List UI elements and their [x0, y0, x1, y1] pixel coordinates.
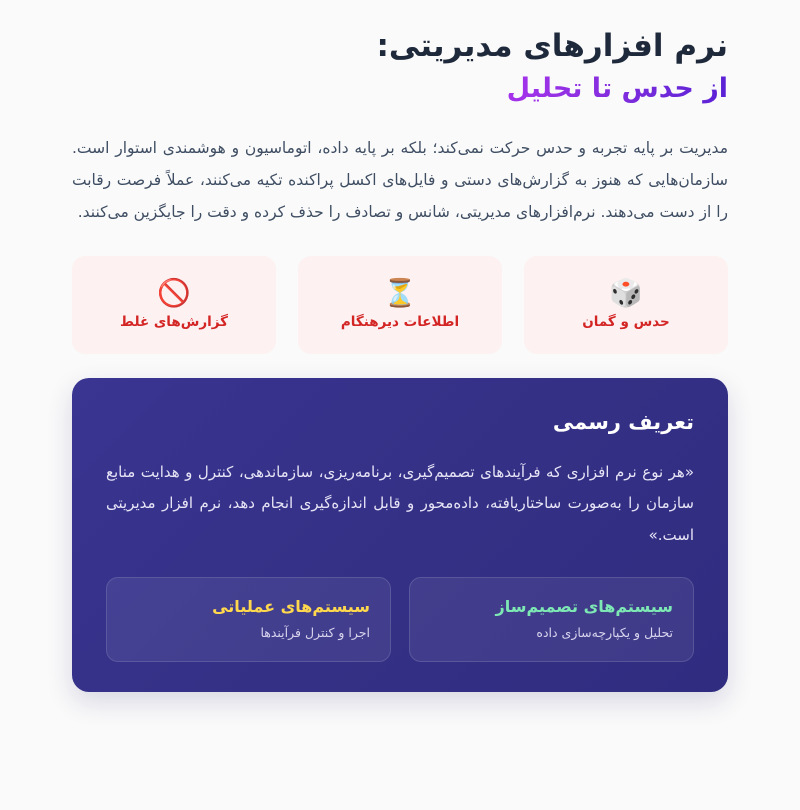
pain-point-card-label: گزارش‌های غلط — [120, 316, 228, 330]
page-subtitle: از حدس تا تحلیل — [507, 71, 728, 107]
subcard-decision-systems[interactable]: سیستم‌های تصمیم‌ساز تحلیل و یکپارچه‌سازی… — [409, 577, 694, 662]
pain-point-card-label: حدس و گمان — [582, 316, 669, 330]
definition-panel-title: تعریف رسمی — [106, 408, 694, 437]
page-title: نرم افزارهای مدیریتی: — [72, 26, 728, 67]
page-root: نرم افزارهای مدیریتی: از حدس تا تحلیل مد… — [0, 0, 800, 810]
subcard-title: سیستم‌های عملیاتی — [127, 595, 370, 618]
dice-icon: 🎲 — [609, 280, 643, 307]
hourglass-icon: ⏳ — [383, 280, 417, 307]
hero-section: نرم افزارهای مدیریتی: از حدس تا تحلیل — [72, 0, 728, 107]
definition-panel: تعریف رسمی «هر نوع نرم افزاری که فرآینده… — [72, 378, 728, 692]
pain-point-card-list: 🎲 حدس و گمان ⏳ اطلاعات دیرهنگام 🚫 گزارش‌… — [72, 256, 728, 354]
subcard-title: سیستم‌های تصمیم‌ساز — [430, 595, 673, 618]
intro-paragraph: مدیریت بر پایه تجربه و حدس حرکت نمی‌کند؛… — [72, 133, 728, 229]
subcard-operational-systems[interactable]: سیستم‌های عملیاتی اجرا و کنترل فرآیندها — [106, 577, 391, 662]
subcard-description: تحلیل و یکپارچه‌سازی داده — [430, 623, 673, 643]
subcard-description: اجرا و کنترل فرآیندها — [127, 623, 370, 643]
pain-point-card-guesswork[interactable]: 🎲 حدس و گمان — [524, 256, 728, 354]
prohibited-icon: 🚫 — [157, 280, 191, 307]
pain-point-card-wrong-reports[interactable]: 🚫 گزارش‌های غلط — [72, 256, 276, 354]
pain-point-card-late-information[interactable]: ⏳ اطلاعات دیرهنگام — [298, 256, 502, 354]
definition-quote-text: «هر نوع نرم افزاری که فرآیندهای تصمیم‌گی… — [106, 457, 694, 552]
pain-point-card-label: اطلاعات دیرهنگام — [341, 316, 459, 330]
definition-subcard-list: سیستم‌های تصمیم‌ساز تحلیل و یکپارچه‌سازی… — [106, 577, 694, 662]
